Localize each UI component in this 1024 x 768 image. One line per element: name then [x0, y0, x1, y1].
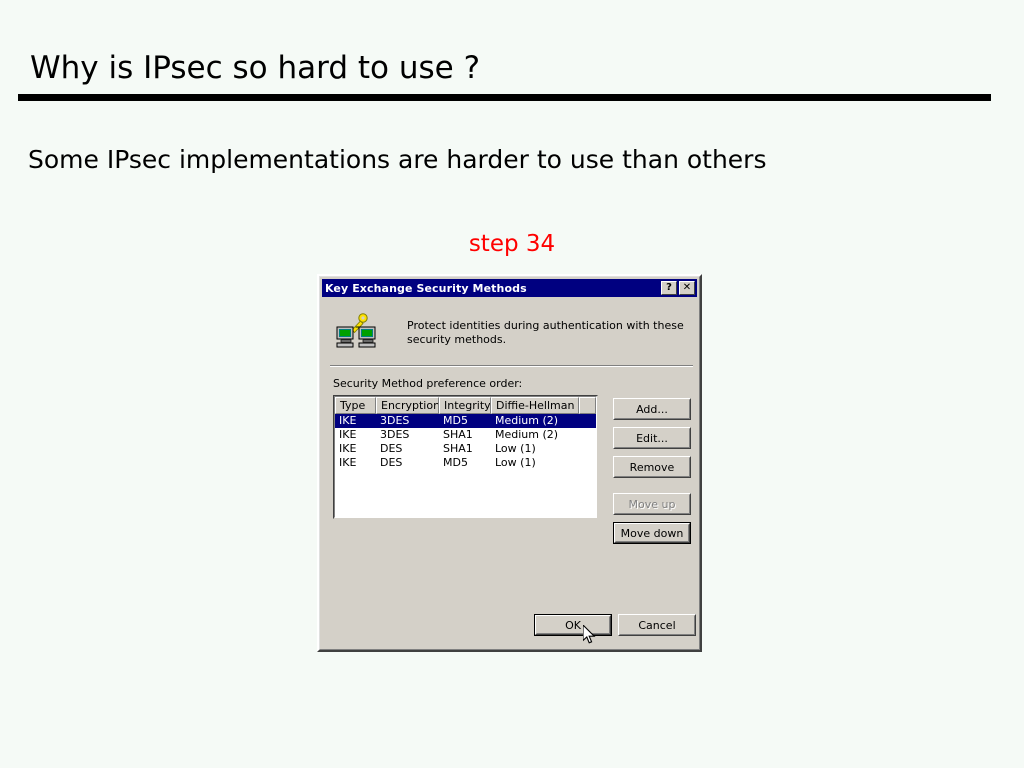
security-method-list-label: Security Method preference order:: [333, 377, 522, 390]
listview-cell: MD5: [439, 414, 491, 428]
listview-row[interactable]: IKE3DESMD5Medium (2): [335, 414, 596, 428]
close-icon[interactable]: ✕: [679, 281, 695, 295]
ok-button[interactable]: OK: [534, 614, 612, 636]
dialog-title-text: Key Exchange Security Methods: [325, 282, 527, 295]
listview-cell: IKE: [335, 442, 376, 456]
cancel-button-label: Cancel: [638, 619, 675, 632]
slide-subtitle: Some IPsec implementations are harder to…: [28, 145, 767, 174]
move-up-button-label: Move up: [629, 498, 676, 511]
listview-column-header[interactable]: Diffie-Hellman ...: [491, 397, 579, 414]
listview-cell: IKE: [335, 456, 376, 470]
two-computers-key-icon: [335, 313, 379, 351]
listview-cell: Low (1): [491, 456, 579, 470]
listview-cell: Low (1): [491, 442, 579, 456]
listview-cell: DES: [376, 442, 439, 456]
dialog-inner-frame: Key Exchange Security Methods ? ✕: [319, 276, 700, 650]
listview-cell: 3DES: [376, 414, 439, 428]
move-down-button[interactable]: Move down: [613, 522, 691, 544]
listview-cell: MD5: [439, 456, 491, 470]
section-divider: [330, 365, 693, 367]
edit-button[interactable]: Edit...: [613, 427, 691, 449]
listview-header-row: TypeEncryptionIntegrityDiffie-Hellman ..…: [335, 397, 596, 414]
remove-button-label: Remove: [630, 461, 675, 474]
listview-column-header[interactable]: Integrity: [439, 397, 491, 414]
listview-cell: 3DES: [376, 428, 439, 442]
dialog-description-row: Protect identities during authentication…: [332, 311, 687, 359]
page-title: Why is IPsec so hard to use ?: [30, 50, 480, 86]
listview-row[interactable]: IKEDESMD5Low (1): [335, 456, 596, 470]
dialog-titlebar[interactable]: Key Exchange Security Methods ? ✕: [322, 279, 697, 297]
listview-column-header[interactable]: Encryption: [376, 397, 439, 414]
listview-row[interactable]: IKEDESSHA1Low (1): [335, 442, 596, 456]
listview-cell: IKE: [335, 414, 376, 428]
help-icon[interactable]: ?: [661, 281, 677, 295]
move-down-button-label: Move down: [621, 527, 684, 540]
add-button[interactable]: Add...: [613, 398, 691, 420]
listview-row[interactable]: IKE3DESSHA1Medium (2): [335, 428, 596, 442]
remove-button[interactable]: Remove: [613, 456, 691, 478]
listview-column-header[interactable]: Type: [335, 397, 376, 414]
listview-cell: Medium (2): [491, 428, 579, 442]
key-exchange-security-methods-dialog: Key Exchange Security Methods ? ✕: [317, 274, 702, 652]
security-method-listview[interactable]: TypeEncryptionIntegrityDiffie-Hellman ..…: [334, 396, 597, 518]
listview-cell: SHA1: [439, 428, 491, 442]
move-up-button: Move up: [613, 493, 691, 515]
listview-cell: SHA1: [439, 442, 491, 456]
listview-body: IKE3DESMD5Medium (2)IKE3DESSHA1Medium (2…: [335, 414, 596, 470]
listview-cell: DES: [376, 456, 439, 470]
dialog-description-text: Protect identities during authentication…: [407, 319, 685, 347]
close-glyph: ✕: [683, 283, 691, 293]
listview-cell: IKE: [335, 428, 376, 442]
listview-column-header[interactable]: [579, 397, 596, 414]
help-glyph: ?: [666, 283, 672, 293]
add-button-label: Add...: [636, 403, 668, 416]
ok-button-label: OK: [565, 619, 581, 632]
title-divider: [18, 94, 991, 101]
step-label: step 34: [0, 231, 1024, 257]
edit-button-label: Edit...: [636, 432, 668, 445]
listview-cell: Medium (2): [491, 414, 579, 428]
cancel-button[interactable]: Cancel: [618, 614, 696, 636]
